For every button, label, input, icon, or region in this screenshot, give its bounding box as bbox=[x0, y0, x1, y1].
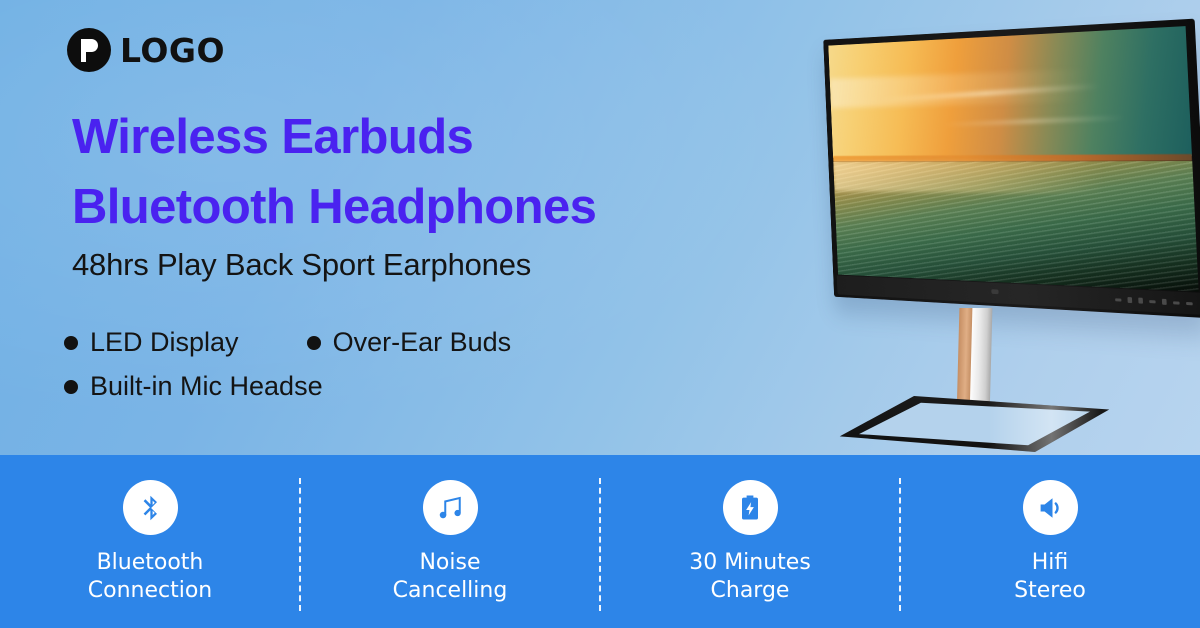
headline-line-2: Bluetooth Headphones bbox=[72, 173, 772, 243]
brand-logo[interactable]: LOGO bbox=[67, 28, 225, 72]
feature-label-line-1: Bluetooth bbox=[97, 550, 204, 575]
monitor-button-icon[interactable] bbox=[1127, 297, 1132, 303]
subheadline: 48hrs Play Back Sport Earphones bbox=[72, 247, 531, 283]
feature-label-line-1: 30 Minutes bbox=[689, 550, 811, 575]
bullet-dot-icon bbox=[307, 336, 321, 350]
page-title: Wireless Earbuds Bluetooth Headphones bbox=[72, 103, 772, 242]
bullet-dot-icon bbox=[64, 380, 78, 394]
logo-text: LOGO bbox=[120, 31, 225, 70]
speaker-volume-icon bbox=[1023, 480, 1078, 535]
feature-item-bluetooth[interactable]: Bluetooth Connection bbox=[0, 455, 300, 605]
monitor-button-icon[interactable] bbox=[1162, 299, 1167, 305]
bullet-dot-icon bbox=[64, 336, 78, 350]
feature-label: 30 Minutes Charge bbox=[689, 549, 811, 605]
monitor-control-buttons[interactable] bbox=[1115, 296, 1193, 306]
feature-label-line-2: Cancelling bbox=[393, 578, 508, 603]
feature-label: Hifi Stereo bbox=[1014, 549, 1086, 605]
bullet-label: Over-Ear Buds bbox=[333, 327, 512, 358]
bullet-item-built-in-mic: Built-in Mic Headse bbox=[64, 371, 323, 402]
base-highlight bbox=[837, 396, 1112, 452]
feature-bar: Bluetooth Connection Noise Cancelling bbox=[0, 455, 1200, 628]
feature-item-noise-cancelling[interactable]: Noise Cancelling bbox=[300, 455, 600, 605]
feature-item-30-minutes-charge[interactable]: 30 Minutes Charge bbox=[600, 455, 900, 605]
monitor-power-button-icon[interactable] bbox=[1186, 301, 1193, 304]
monitor-stand-base bbox=[837, 396, 1112, 452]
battery-charging-icon bbox=[723, 480, 778, 535]
bullet-label: Built-in Mic Headse bbox=[90, 371, 323, 402]
bluetooth-icon bbox=[123, 480, 178, 535]
feature-label-line-2: Charge bbox=[711, 578, 790, 603]
bullet-row-2: Built-in Mic Headse bbox=[64, 371, 684, 402]
promo-banner: LOGO Wireless Earbuds Bluetooth Headphon… bbox=[0, 0, 1200, 628]
monitor-button-icon[interactable] bbox=[1149, 300, 1156, 303]
feature-label-line-2: Stereo bbox=[1014, 578, 1086, 603]
feature-item-hifi-stereo[interactable]: Hifi Stereo bbox=[900, 455, 1200, 605]
music-note-icon bbox=[423, 480, 478, 535]
monitor-button-icon[interactable] bbox=[1115, 298, 1121, 301]
feature-bullet-list: LED Display Over-Ear Buds Built-in Mic H… bbox=[64, 327, 684, 415]
bullet-row-1: LED Display Over-Ear Buds bbox=[64, 327, 684, 358]
product-image-monitor bbox=[742, 0, 1200, 460]
monitor-brand-dot-icon bbox=[991, 289, 998, 294]
feature-label-line-2: Connection bbox=[88, 578, 212, 603]
bullet-item-led-display: LED Display bbox=[64, 327, 239, 358]
monitor-button-icon[interactable] bbox=[1138, 298, 1143, 304]
monitor-screen bbox=[828, 26, 1198, 292]
feature-label: Noise Cancelling bbox=[393, 549, 508, 605]
headline-line-1: Wireless Earbuds bbox=[72, 103, 772, 173]
p-monogram-icon bbox=[67, 28, 111, 72]
feature-label-line-1: Hifi bbox=[1032, 550, 1069, 575]
wallpaper-water bbox=[833, 161, 1198, 291]
bullet-item-over-ear-buds: Over-Ear Buds bbox=[307, 327, 512, 358]
bullet-label: LED Display bbox=[90, 327, 239, 358]
feature-label-line-1: Noise bbox=[419, 550, 480, 575]
feature-label: Bluetooth Connection bbox=[88, 549, 212, 605]
monitor-panel bbox=[823, 19, 1200, 319]
monitor-button-icon[interactable] bbox=[1173, 301, 1180, 304]
